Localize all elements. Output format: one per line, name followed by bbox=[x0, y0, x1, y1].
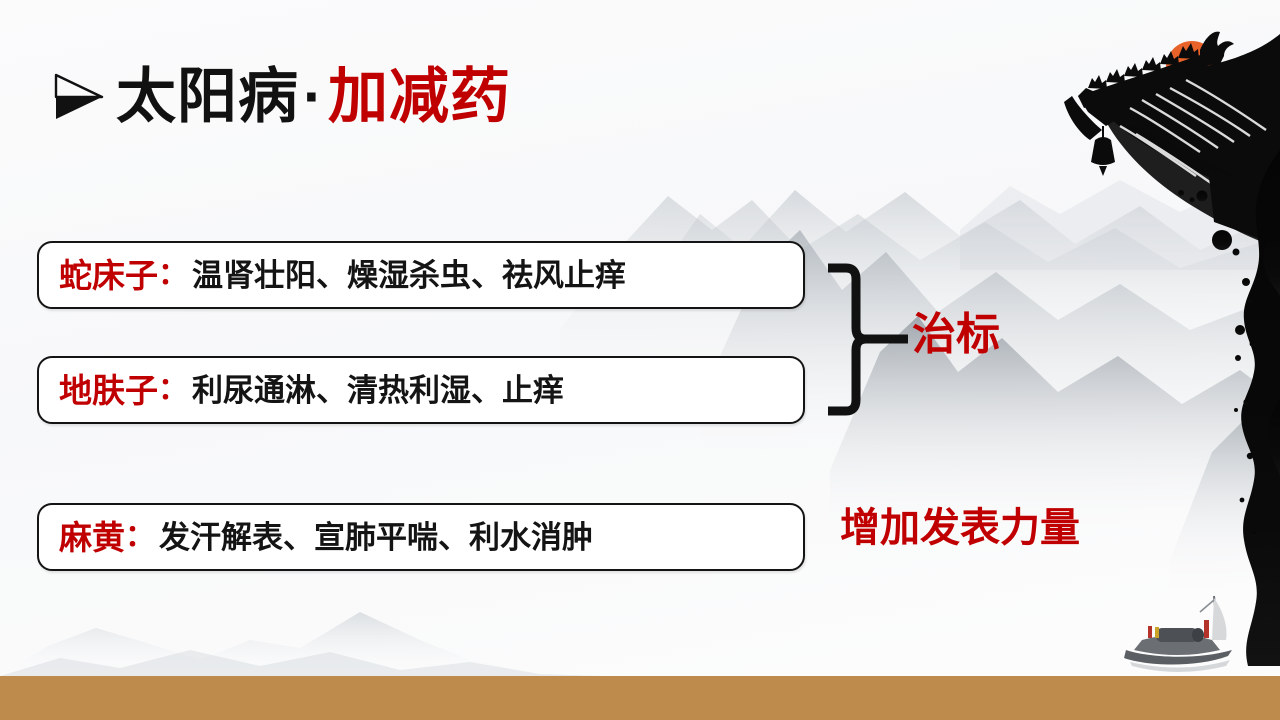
chinese-temple-roof-eave-icon bbox=[1064, 32, 1280, 248]
right-curly-brace-icon bbox=[826, 262, 918, 417]
hanging-bell-icon bbox=[1091, 126, 1115, 176]
herb-colon: ： bbox=[125, 522, 159, 552]
annotation-zhibiao: 治标 bbox=[912, 313, 1000, 357]
title-separator: · bbox=[299, 67, 328, 127]
herb-effects: 发汗解表、宣肺平喘、利水消肿 bbox=[159, 522, 593, 553]
herb-effects: 温肾壮阳、燥湿杀虫、祛风止痒 bbox=[192, 260, 626, 291]
annotation-mahuang-effect: 增加发表力量 bbox=[840, 508, 1080, 548]
page-title: 太阳病 · 加减药 bbox=[52, 58, 511, 136]
title-red-text: 加减药 bbox=[328, 67, 511, 127]
herb-card-difuzi[interactable]: 地肤子 ： 利尿通淋、清热利湿、止痒 bbox=[37, 356, 805, 424]
arrowhead-bullet-icon bbox=[52, 67, 106, 127]
herb-card-mahuang[interactable]: 麻黄 ： 发汗解表、宣肺平喘、利水消肿 bbox=[37, 503, 805, 571]
herb-colon: ： bbox=[158, 375, 192, 405]
slide-canvas: 太阳病 · 加减药 蛇床子 ： 温肾壮阳、燥湿杀虫、祛风止痒 地肤子 ： 利尿通… bbox=[0, 0, 1280, 720]
herb-effects: 利尿通淋、清热利湿、止痒 bbox=[192, 375, 564, 406]
herb-name: 地肤子 bbox=[59, 374, 158, 407]
orange-sun-icon bbox=[1166, 41, 1218, 93]
title-black-text: 太阳病 bbox=[116, 67, 299, 127]
herb-name: 麻黄 bbox=[59, 521, 125, 554]
herb-card-shechuangzi[interactable]: 蛇床子 ： 温肾壮阳、燥湿杀虫、祛风止痒 bbox=[37, 241, 805, 309]
bottom-accent-bar bbox=[0, 676, 1280, 720]
herb-colon: ： bbox=[158, 260, 192, 290]
herb-name: 蛇床子 bbox=[59, 259, 158, 292]
ink-brush-splash-icon bbox=[1178, 150, 1280, 666]
river-boat-icon bbox=[1124, 596, 1232, 672]
